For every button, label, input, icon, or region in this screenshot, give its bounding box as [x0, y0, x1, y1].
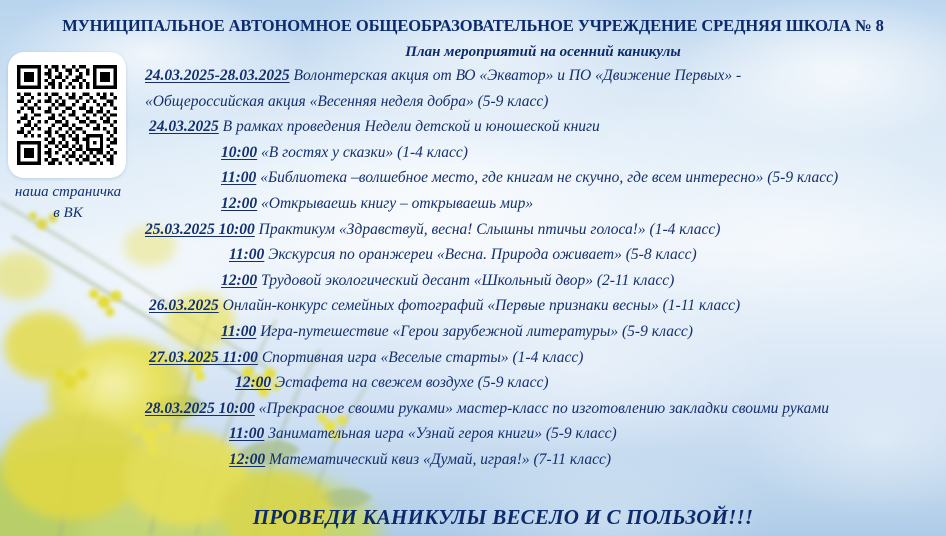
- schedule-line: 11:00 Игра-путешествие «Герои зарубежной…: [145, 319, 946, 345]
- schedule-line-text: Математический квиз «Думай, играя!» (7-1…: [265, 451, 611, 468]
- schedule-line-text: Спортивная игра «Веселые старты» (1-4 кл…: [258, 349, 583, 366]
- schedule-line-text: Эстафета на свежем воздухе (5-9 класс): [271, 374, 548, 391]
- schedule-line: 12:00 «Открываешь книгу – открываешь мир…: [145, 191, 946, 217]
- closing-slogan: ПРОВЕДИ КАНИКУЛЫ ВЕСЕЛО И С ПОЛЬЗОЙ!!!: [0, 505, 946, 530]
- schedule-line: 26.03.2025 Онлайн-конкурс семейных фотог…: [145, 293, 946, 319]
- schedule-line-text: «Открываешь книгу – открываешь мир»: [257, 195, 533, 212]
- schedule-line-text: Занимательная игра «Узнай героя книги» (…: [264, 425, 616, 442]
- schedule-line: 11:00 «Библиотека –волшебное место, где …: [145, 165, 946, 191]
- schedule-line-text: Волонтерская акция от ВО «Экватор» и ПО …: [290, 67, 742, 84]
- schedule-line: 24.03.2025-28.03.2025 Волонтерская акция…: [145, 63, 946, 89]
- qr-caption-line1: наша страничка: [0, 182, 136, 203]
- qr-code-icon: [17, 65, 117, 165]
- schedule-line: 11:00 Занимательная игра «Узнай героя кн…: [145, 421, 946, 447]
- closing-slogan-text: ПРОВЕДИ КАНИКУЛЫ ВЕСЕЛО И С ПОЛЬЗОЙ!!!: [193, 505, 754, 530]
- schedule-line: 12:00 Трудовой экологический десант «Шко…: [145, 268, 946, 294]
- schedule-line-lead: 12:00: [229, 451, 265, 468]
- schedule-line-lead: 11:00: [229, 425, 264, 442]
- schedule-line-text: «В гостях у сказки» (1-4 класс): [257, 144, 468, 161]
- schedule-line-lead: 24.03.2025: [149, 118, 219, 135]
- schedule-line-text: Трудовой экологический десант «Школьный …: [257, 272, 674, 289]
- schedule-line-lead: 12:00: [221, 272, 257, 289]
- schedule-line-text: «Общероссийская акция «Весенняя неделя д…: [145, 93, 548, 110]
- schedule-line-lead: 28.03.2025 10:00: [145, 400, 255, 417]
- qr-code-card[interactable]: [8, 52, 126, 178]
- schedule-line-text: В рамках проведения Недели детской и юно…: [219, 118, 600, 135]
- page-title: МУНИЦИПАЛЬНОЕ АВТОНОМНОЕ ОБЩЕОБРАЗОВАТЕЛ…: [0, 16, 946, 36]
- schedule-line-text: Онлайн-конкурс семейных фотографий «Перв…: [219, 297, 740, 314]
- schedule-line-lead: 27.03.2025 11:00: [149, 349, 258, 366]
- schedule-line: 28.03.2025 10:00 «Прекрасное своими рука…: [145, 396, 946, 422]
- schedule-line-lead: 12:00: [221, 195, 257, 212]
- schedule-line: 10:00 «В гостях у сказки» (1-4 класс): [145, 140, 946, 166]
- schedule-line: 11:00 Экскурсия по оранжереи «Весна. При…: [145, 242, 946, 268]
- qr-caption: наша страничка в ВК: [0, 182, 136, 224]
- schedule-line-lead: 25.03.2025 10:00: [145, 221, 255, 238]
- schedule-list: 24.03.2025-28.03.2025 Волонтерская акция…: [145, 63, 946, 473]
- schedule-line-lead: 24.03.2025-28.03.2025: [145, 67, 290, 84]
- schedule-line-lead: 11:00: [221, 169, 256, 186]
- schedule-line-text: Игра-путешествие «Герои зарубежной литер…: [256, 323, 693, 340]
- page-subtitle: План мероприятий на осенний каникулы: [140, 44, 946, 61]
- schedule-line-lead: 11:00: [229, 246, 264, 263]
- qr-caption-line2: в ВК: [0, 203, 136, 224]
- schedule-line-text: «Библиотека –волшебное место, где книгам…: [256, 169, 838, 186]
- schedule-line-lead: 26.03.2025: [149, 297, 219, 314]
- schedule-line: 24.03.2025 В рамках проведения Недели де…: [145, 114, 946, 140]
- schedule-line: 25.03.2025 10:00 Практикум «Здравствуй, …: [145, 217, 946, 243]
- schedule-line: 12:00 Математический квиз «Думай, играя!…: [145, 447, 946, 473]
- schedule-line-text: Практикум «Здравствуй, весна! Слышны пти…: [255, 221, 721, 238]
- schedule-line-text: «Прекрасное своими руками» мастер-класс …: [255, 400, 829, 417]
- schedule-line-lead: 12:00: [235, 374, 271, 391]
- poster-canvas: наша страничка в ВК МУНИЦИПАЛЬНОЕ АВТОНО…: [0, 0, 946, 536]
- schedule-line: 27.03.2025 11:00 Спортивная игра «Веселы…: [145, 345, 946, 371]
- schedule-line: 12:00 Эстафета на свежем воздухе (5-9 кл…: [145, 370, 946, 396]
- schedule-line-lead: 11:00: [221, 323, 256, 340]
- schedule-line-lead: 10:00: [221, 144, 257, 161]
- schedule-line-text: Экскурсия по оранжереи «Весна. Природа о…: [264, 246, 696, 263]
- schedule-line: «Общероссийская акция «Весенняя неделя д…: [145, 89, 946, 115]
